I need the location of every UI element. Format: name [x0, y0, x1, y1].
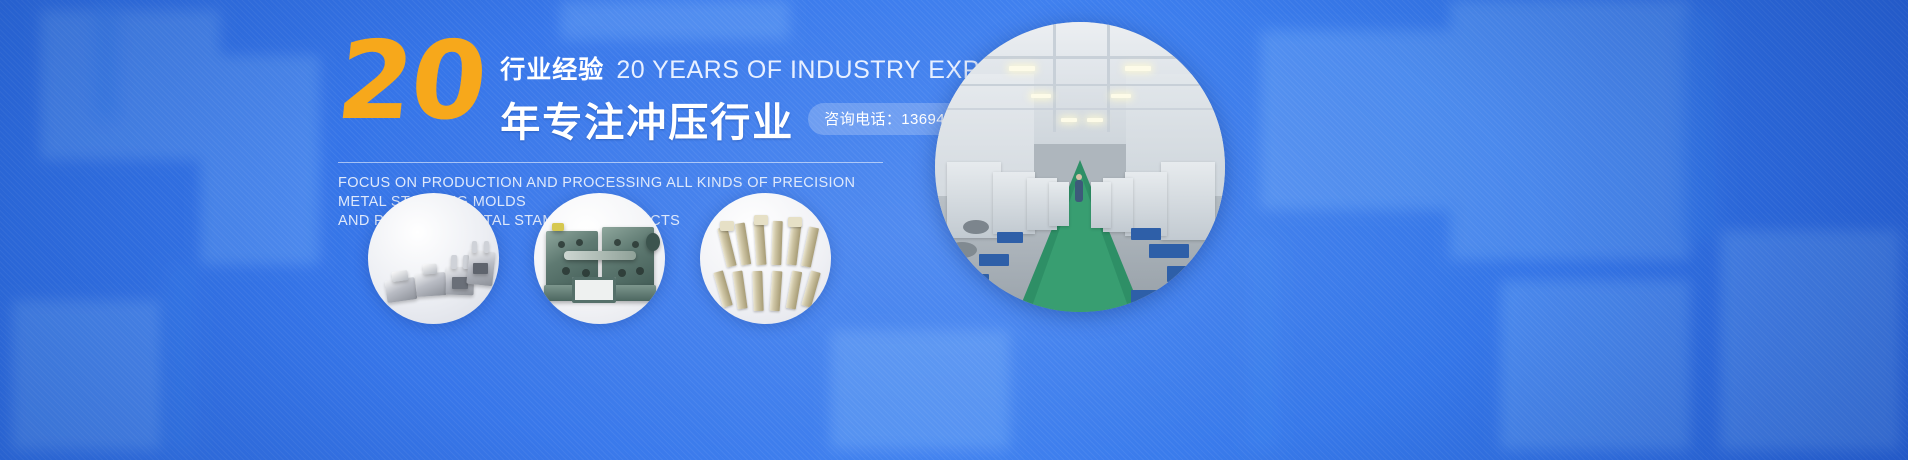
promo-banner: 20 行业经验 20 YEARS OF INDUSTRY EXPERIENCE …	[0, 0, 1908, 460]
product-circle-mold	[534, 193, 665, 324]
product-circle-connectors	[368, 193, 499, 324]
years-number: 20	[333, 38, 489, 126]
factory-photo-circle	[935, 22, 1225, 312]
divider-rule	[338, 162, 883, 163]
cn-tagline-small: 行业经验	[500, 50, 604, 86]
product-circle-pins	[700, 193, 831, 324]
cn-tagline-big: 年专注冲压行业	[500, 90, 794, 148]
headline-row: 20 行业经验 20 YEARS OF INDUSTRY EXPERIENCE …	[338, 36, 938, 148]
